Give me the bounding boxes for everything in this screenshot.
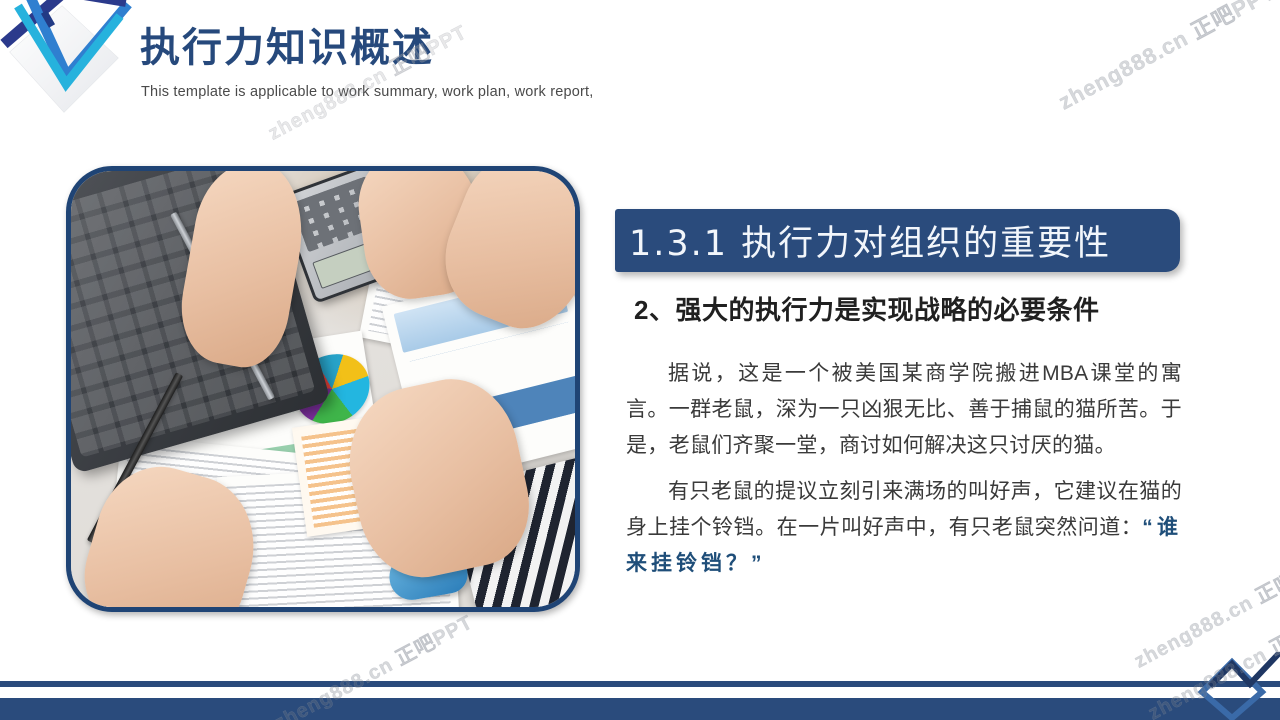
body-paragraph-2-prefix: 有只老鼠的提议立刻引来满场的叫好声，它建议在猫的身上挂个铃铛。在一片叫好声中，有… xyxy=(626,480,1182,539)
watermark: zheng888.cn 正吧PPT xyxy=(1052,0,1280,116)
page-title: 执行力知识概述 xyxy=(140,26,434,71)
section-banner: 1.3.1 执行力对组织的重要性 xyxy=(615,209,1180,272)
decor-stroke-navy xyxy=(4,0,62,44)
section-banner-label: 1.3.1 执行力对组织的重要性 xyxy=(629,215,1111,266)
body-text: 据说，这是一个被美国某商学院搬进MBA课堂的寓言。一群老鼠，深为一只凶狠无比、善… xyxy=(626,356,1182,582)
decor-stroke-blue xyxy=(30,0,128,76)
photo-content xyxy=(71,171,575,607)
slide-canvas: 执行力知识概述 This template is applicable to w… xyxy=(0,0,1280,720)
meeting-photo xyxy=(66,166,580,612)
sub-heading: 2、强大的执行力是实现战略的必要条件 xyxy=(634,290,1099,327)
body-paragraph-1: 据说，这是一个被美国某商学院搬进MBA课堂的寓言。一群老鼠，深为一只凶狠无比、善… xyxy=(626,356,1182,464)
footer-thin-bar xyxy=(0,681,1280,687)
footer-thick-bar xyxy=(0,698,1280,720)
page-subtitle: This template is applicable to work summ… xyxy=(141,84,594,100)
header-decoration xyxy=(0,0,150,130)
decor-accent-navy xyxy=(44,12,52,26)
decor-arm-navy xyxy=(66,0,126,2)
decor-stroke-cyan xyxy=(18,6,120,84)
body-paragraph-2: 有只老鼠的提议立刻引来满场的叫好声，它建议在猫的身上挂个铃铛。在一片叫好声中，有… xyxy=(626,474,1182,582)
decor-plate xyxy=(10,6,118,112)
